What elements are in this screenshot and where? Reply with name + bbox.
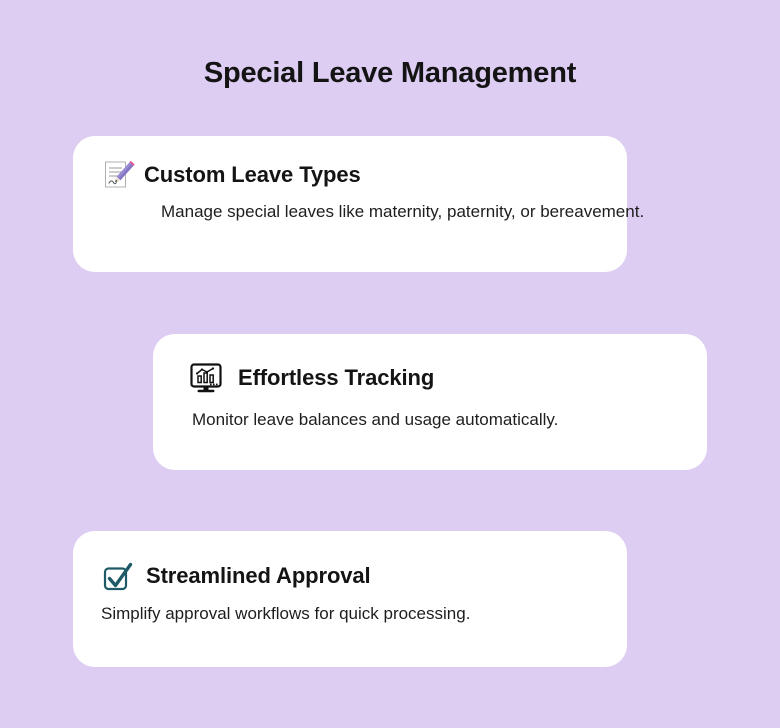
feature-card-effortless-tracking: Effortless Tracking Monitor leave balanc… xyxy=(153,334,707,470)
card-description: Monitor leave balances and usage automat… xyxy=(192,408,682,432)
card-title: Streamlined Approval xyxy=(146,563,371,589)
card-header: Effortless Tracking xyxy=(189,361,434,395)
monitor-chart-icon xyxy=(189,361,223,395)
card-header: Streamlined Approval xyxy=(101,559,371,593)
card-title: Effortless Tracking xyxy=(238,365,434,391)
ballot-box-with-check-icon xyxy=(101,559,135,593)
feature-card-streamlined-approval: Streamlined Approval Simplify approval w… xyxy=(73,531,627,667)
card-description: Simplify approval workflows for quick pr… xyxy=(101,602,591,626)
card-description: Manage special leaves like maternity, pa… xyxy=(88,200,661,224)
feature-card-custom-leave-types: Custom Leave Types Manage special leaves… xyxy=(73,136,627,272)
card-title: Custom Leave Types xyxy=(144,162,361,188)
page-title: Special Leave Management xyxy=(0,54,780,92)
card-header: Custom Leave Types xyxy=(101,158,361,192)
page-canvas: Special Leave Management xyxy=(0,0,780,728)
memo-icon xyxy=(101,158,135,192)
